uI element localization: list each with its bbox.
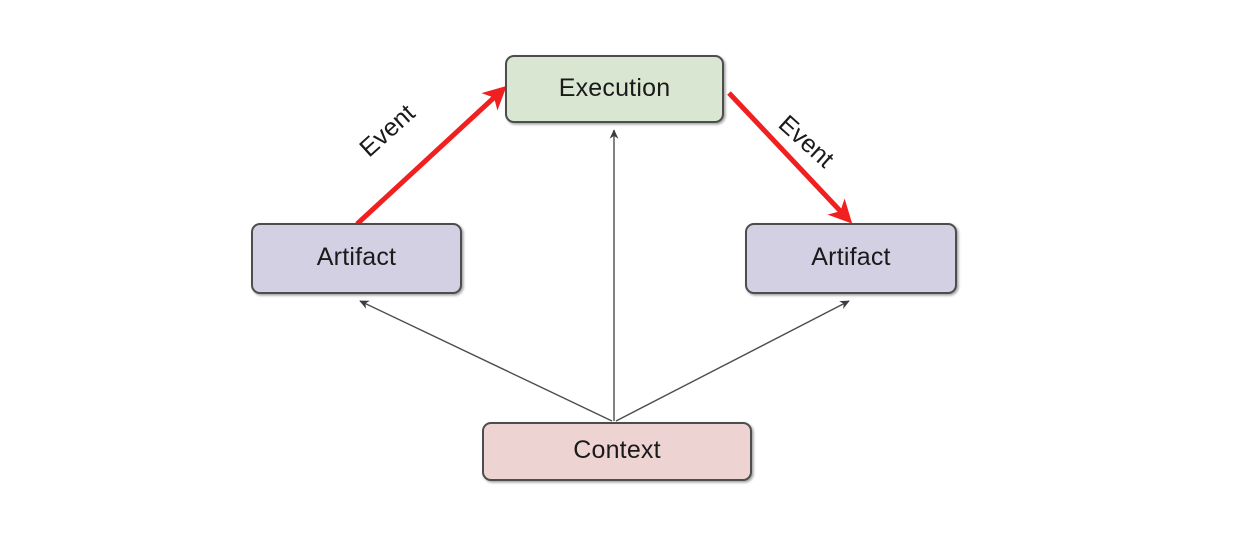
edge-context-to-artifact-right <box>616 301 849 421</box>
node-artifact-input[interactable]: Artifact <box>251 223 462 294</box>
node-artifact-input-label: Artifact <box>317 245 396 272</box>
diagram-canvas: Execution Artifact Artifact Context Even… <box>0 0 1236 542</box>
edge-context-to-artifact-left <box>360 301 612 421</box>
node-execution-label: Execution <box>559 76 671 103</box>
node-context-label: Context <box>573 438 661 465</box>
edge-input-event <box>357 93 499 224</box>
node-artifact-output-label: Artifact <box>811 245 890 272</box>
node-artifact-output[interactable]: Artifact <box>745 223 957 294</box>
node-context[interactable]: Context <box>482 422 752 481</box>
node-execution[interactable]: Execution <box>505 55 724 123</box>
